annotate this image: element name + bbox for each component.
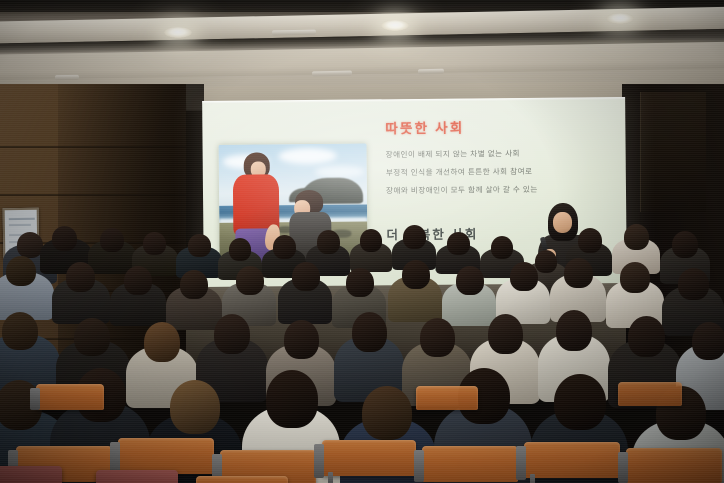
front-seat-cushion[interactable] bbox=[0, 466, 62, 483]
audience-member bbox=[510, 262, 538, 291]
slide-body-line: 장애인이 배제 되지 않는 차별 없는 사회 bbox=[386, 149, 624, 159]
audience-member bbox=[628, 316, 665, 357]
ceiling-vent bbox=[418, 69, 444, 74]
audience-member bbox=[144, 322, 180, 362]
right-door bbox=[640, 92, 706, 212]
downlight-icon bbox=[164, 27, 192, 38]
audience-member bbox=[317, 230, 340, 254]
audience-member bbox=[535, 250, 557, 273]
front-seat-cushion[interactable] bbox=[96, 470, 178, 483]
auditorium-chair[interactable] bbox=[36, 384, 104, 410]
audience-member bbox=[284, 320, 319, 359]
slide-body-line: 장애와 비장애인이 모두 함께 살아 갈 수 있는 bbox=[386, 185, 624, 195]
presenter-face bbox=[553, 212, 572, 233]
ceiling-vent bbox=[312, 71, 352, 77]
audience-member bbox=[488, 314, 523, 354]
audience-member bbox=[620, 262, 650, 293]
audience-member bbox=[170, 380, 220, 434]
auditorium-chair[interactable] bbox=[618, 382, 682, 406]
lecture-hall-photo: 따뜻한 사회 장애인이 배제 되지 않는 차별 없는 사회 부정적 인식을 개선… bbox=[0, 0, 724, 483]
audience-member bbox=[420, 318, 455, 357]
downlight-icon bbox=[381, 20, 409, 31]
audience-member bbox=[52, 226, 77, 251]
audience-member bbox=[554, 374, 606, 430]
auditorium-chair[interactable] bbox=[626, 448, 722, 483]
downlight-icon bbox=[606, 13, 634, 24]
audience-member bbox=[360, 229, 382, 252]
chair-leg bbox=[530, 474, 535, 483]
audience-member bbox=[564, 258, 593, 288]
audience-member bbox=[624, 224, 649, 250]
chair-armrest bbox=[618, 452, 628, 483]
chair-leg bbox=[328, 472, 333, 483]
chair-armrest bbox=[314, 444, 324, 478]
ceiling-vent bbox=[272, 30, 316, 36]
audience-member bbox=[74, 318, 110, 356]
audience-member bbox=[456, 266, 484, 295]
audience-member bbox=[292, 262, 320, 291]
auditorium-chair[interactable] bbox=[422, 446, 518, 482]
auditorium-chair[interactable] bbox=[118, 438, 214, 474]
audience-member bbox=[6, 256, 36, 286]
audience-member bbox=[180, 270, 208, 299]
auditorium-chair[interactable] bbox=[322, 440, 416, 476]
auditorium-chair[interactable] bbox=[524, 442, 620, 478]
audience-member bbox=[266, 370, 318, 428]
audience-member bbox=[403, 225, 426, 249]
audience-member bbox=[100, 228, 124, 252]
audience-member bbox=[578, 228, 602, 253]
audience-member bbox=[402, 260, 430, 289]
auditorium-chair[interactable] bbox=[416, 386, 478, 410]
chair-armrest bbox=[414, 450, 424, 482]
audience-member bbox=[556, 310, 592, 351]
ceiling-vent bbox=[55, 75, 79, 80]
audience-member bbox=[229, 238, 251, 261]
chair-armrest bbox=[516, 446, 526, 480]
audience-member bbox=[188, 234, 211, 257]
audience-member bbox=[273, 235, 296, 259]
audience-member bbox=[346, 268, 374, 297]
audience-member bbox=[678, 268, 709, 300]
chair-armrest bbox=[30, 388, 40, 410]
slide-title: 따뜻한 사회 bbox=[385, 117, 464, 138]
audience-member bbox=[672, 231, 698, 258]
audience-member bbox=[352, 312, 387, 352]
slide-body-text: 장애인이 배제 되지 않는 차별 없는 사회 부정적 인식을 개선하여 튼튼한 … bbox=[386, 149, 625, 205]
audience-member bbox=[143, 232, 166, 255]
audience-member bbox=[362, 386, 412, 440]
audience bbox=[0, 238, 724, 483]
audience-member bbox=[236, 266, 264, 295]
audience-member bbox=[491, 236, 513, 259]
audience-member bbox=[447, 232, 470, 255]
slide-body-line: 부정적 인식을 개선하여 튼튼한 사회 참여로 bbox=[386, 167, 624, 177]
audience-member bbox=[692, 322, 724, 360]
front-seat-cushion[interactable] bbox=[196, 476, 288, 483]
audience-member bbox=[66, 262, 95, 292]
audience-member bbox=[124, 266, 152, 295]
audience-member bbox=[2, 312, 38, 350]
audience-member bbox=[214, 314, 250, 354]
